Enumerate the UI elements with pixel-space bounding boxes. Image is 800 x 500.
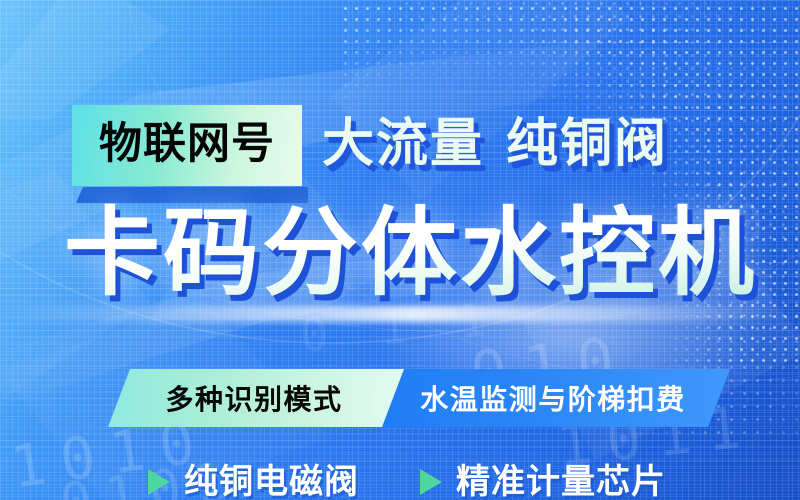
feature-item: 精准计量芯片 (420, 462, 666, 500)
subtitle-left-label: 多种识别模式 (165, 378, 342, 418)
page-title: 卡码分体水控机 (64, 196, 757, 312)
subtitle-bar: 水温监测与阶梯扣费 多种识别模式 (108, 369, 730, 427)
subtitle-right-label: 水温监测与阶梯扣费 (420, 378, 686, 418)
subtitle-right-panel: 水温监测与阶梯扣费 (380, 369, 730, 427)
headline-row: 大流量纯铜阀 (322, 104, 668, 185)
feature-item: 纯铜电磁阀 (148, 462, 359, 500)
tag-box: 物联网号 (72, 105, 302, 186)
feature-row: 纯铜电磁阀 精准计量芯片 (0, 462, 800, 500)
headline-part-2: 纯铜阀 (506, 115, 668, 173)
subtitle-left-panel: 多种识别模式 (108, 369, 404, 427)
tag-label: 物联网号 (99, 123, 275, 166)
feature-label: 纯铜电磁阀 (184, 462, 359, 500)
feature-label: 精准计量芯片 (456, 462, 666, 500)
headline-part-1: 大流量 (322, 115, 484, 173)
promo-banner: 1010 0101 010 1011 0 1 1 10 物联网号 大流量纯铜阀 … (0, 0, 800, 500)
triangle-right-icon (148, 469, 170, 495)
product-tag: 物联网号 (72, 105, 302, 186)
triangle-right-icon (420, 469, 442, 495)
